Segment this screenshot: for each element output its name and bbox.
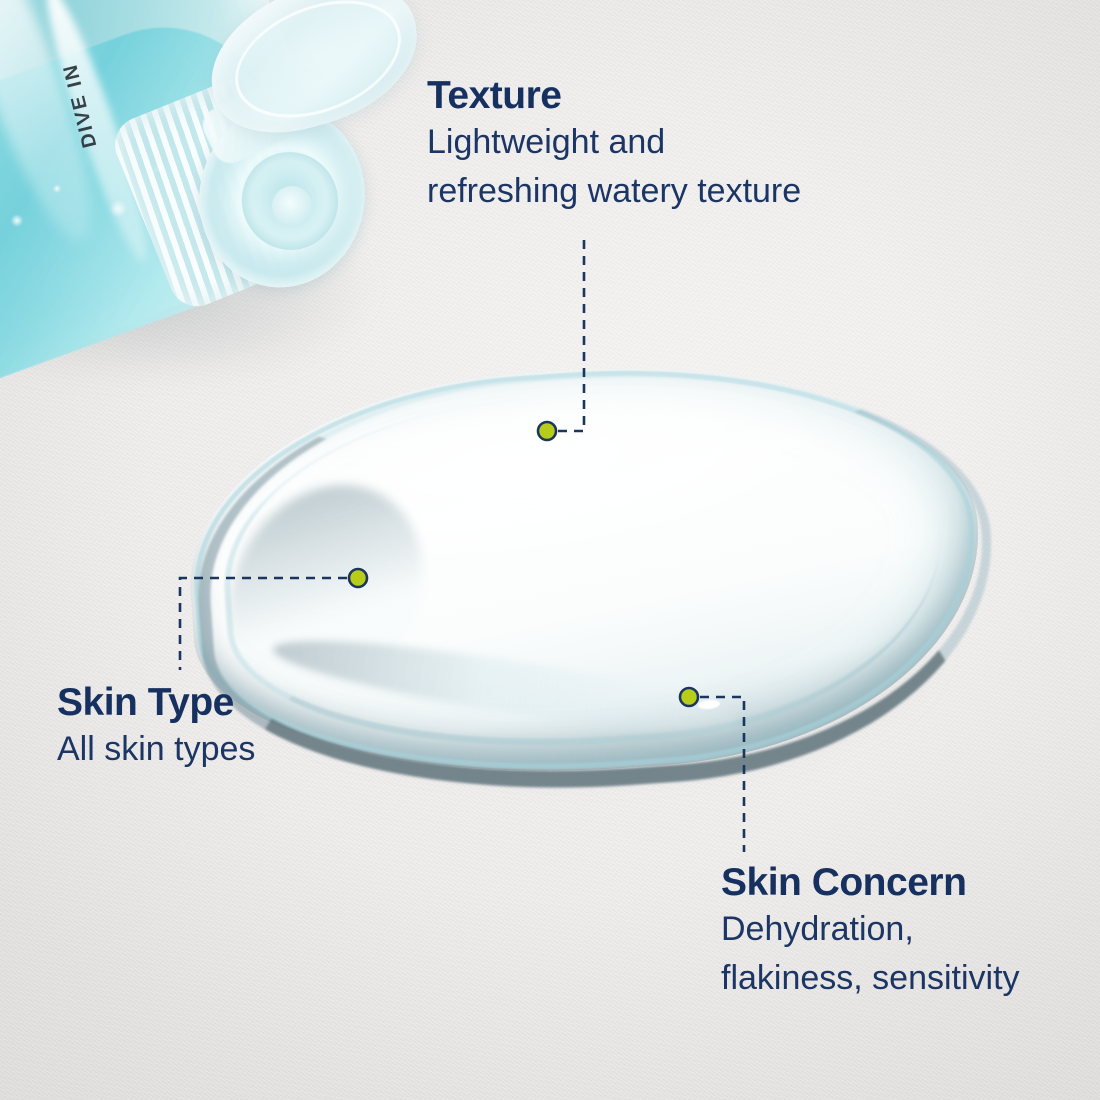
callout-texture-line-1: Lightweight and	[427, 118, 801, 167]
callout-skin-concern: Skin Concern Dehydration, flakiness, sen…	[721, 861, 1020, 1003]
callout-skin-type-title: Skin Type	[57, 681, 255, 725]
callout-skin-concern-line-2: flakiness, sensitivity	[721, 954, 1020, 1003]
product-infographic: Torriden DIVE IN Texture Lightweight and…	[0, 0, 1100, 1100]
callout-skin-concern-line-1: Dehydration,	[721, 905, 1020, 954]
callout-skin-concern-title: Skin Concern	[721, 861, 1020, 905]
bottle-mouth-core	[272, 186, 312, 226]
callout-skin-type-line-1: All skin types	[57, 725, 255, 774]
callout-texture-line-2: refreshing watery texture	[427, 167, 801, 216]
serum-droplet	[150, 360, 980, 800]
callout-texture: Texture Lightweight and refreshing water…	[427, 74, 801, 216]
callout-texture-title: Texture	[427, 74, 801, 118]
callout-skin-type: Skin Type All skin types	[57, 681, 255, 774]
